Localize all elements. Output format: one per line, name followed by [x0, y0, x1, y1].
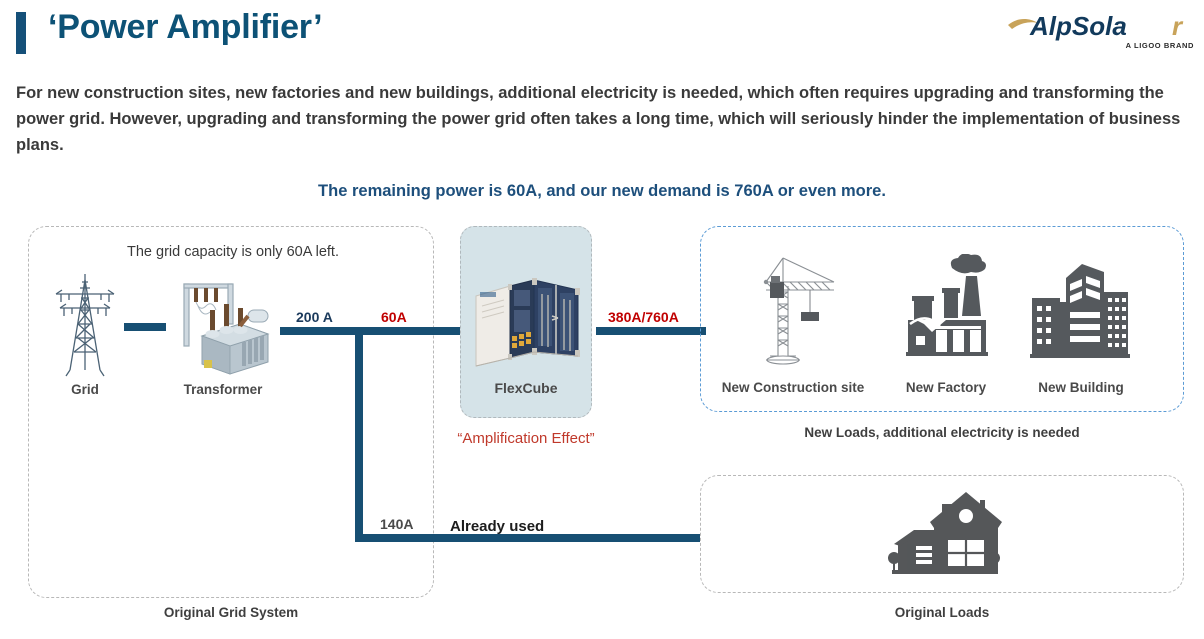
transformer-label: Transformer — [168, 382, 278, 397]
new-factory-label: New Factory — [888, 380, 1004, 395]
logo-wordmark-icon: AlpSola r — [1006, 8, 1196, 42]
flow-label-spare: 60A — [381, 309, 407, 325]
original-loads-caption: Original Loads — [700, 605, 1184, 620]
flow-label-already-used: Already used — [450, 518, 544, 535]
svg-text:r: r — [1172, 11, 1184, 41]
crane-icon — [748, 252, 840, 370]
flexcube-label: FlexCube — [460, 380, 592, 396]
flow-label-input: 200 A — [296, 309, 333, 325]
slide-root: ‘Power Amplifier’ AlpSola r A LIGOO BRAN… — [0, 0, 1204, 639]
intro-paragraph: For new construction sites, new factorie… — [16, 80, 1186, 158]
new-loads-caption: New Loads, additional electricity is nee… — [700, 425, 1184, 440]
new-construction-site-label: New Construction site — [718, 380, 868, 395]
connector-original-loads — [355, 534, 700, 542]
house-icon — [886, 488, 1002, 580]
connector-grid-transformer — [124, 323, 166, 331]
amplification-effect-note: “Amplification Effect” — [440, 430, 612, 447]
logo-tagline: A LIGOO BRAND — [1126, 41, 1194, 50]
power-flow-diagram: The grid capacity is only 60A left. Grid — [0, 210, 1204, 639]
container-battery-icon — [470, 272, 584, 372]
flow-label-output: 380A/760A — [608, 309, 679, 325]
svg-text:AlpSola: AlpSola — [1029, 11, 1127, 41]
connector-vertical-branch — [355, 327, 363, 542]
emphasis-line: The remaining power is 60A, and our new … — [0, 182, 1204, 201]
new-building-label: New Building — [1024, 380, 1138, 395]
transformer-icon — [178, 276, 274, 380]
flow-label-used: 140A — [380, 516, 413, 532]
grid-label: Grid — [52, 382, 118, 397]
transmission-tower-icon — [52, 270, 118, 380]
grid-capacity-note: The grid capacity is only 60A left. — [108, 244, 358, 260]
connector-flexcube-newloads — [596, 327, 706, 335]
factory-icon — [898, 254, 994, 366]
alpsolar-logo: AlpSola r A LIGOO BRAND — [1006, 8, 1196, 56]
page-title: ‘Power Amplifier’ — [48, 8, 322, 47]
original-grid-caption: Original Grid System — [28, 605, 434, 620]
title-accent-bar — [16, 12, 26, 54]
office-building-icon — [1026, 258, 1136, 366]
connector-transformer-flexcube — [280, 327, 460, 335]
